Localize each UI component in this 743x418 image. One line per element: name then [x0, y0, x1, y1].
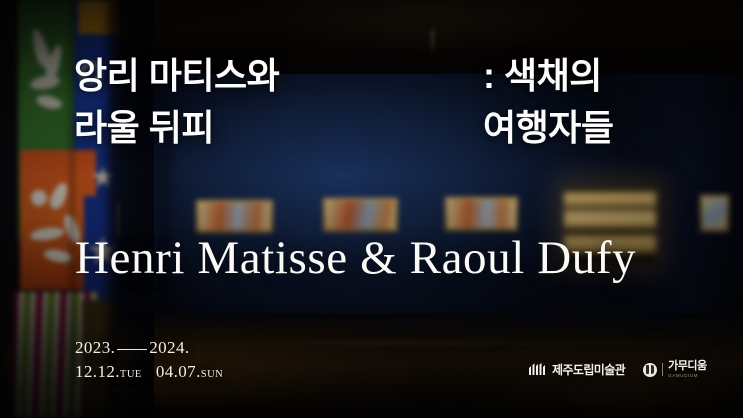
exhibition-poster: 앙리 마티스와 라울 뒤피 : 색채의여행자들 Henri Matisse & … — [0, 0, 743, 418]
title-korean-line-1: 앙리 마티스와 — [74, 55, 279, 96]
poster-content: 앙리 마티스와 라울 뒤피 : 색채의여행자들 Henri Matisse & … — [0, 0, 743, 418]
page-title-korean: 앙리 마티스와 라울 뒤피 — [74, 50, 279, 154]
start-day-of-week: TUE — [120, 369, 142, 380]
jeju-museum-name: 제주도립미술관 — [552, 361, 625, 378]
logo-row: 제주도립미술관 가무디움 GAMUDIUM — [528, 361, 707, 378]
gamudium-text-block: 가무디움 GAMUDIUM — [668, 361, 706, 378]
date-range-separator-icon — [115, 336, 149, 353]
page-title-english: Henri Matisse & Raoul Dufy — [75, 231, 636, 285]
subtitle-korean-line-1: : 색채의 — [483, 55, 602, 96]
gamudium-logo[interactable]: 가무디움 GAMUDIUM — [643, 361, 706, 378]
exhibition-days-row: 12.12.TUE04.07.SUN — [75, 360, 223, 384]
end-date: 04.07. — [156, 362, 201, 381]
title-korean-line-2: 라울 뒤피 — [74, 107, 214, 148]
subtitle-korean: : 색채의여행자들 — [483, 50, 613, 154]
gamudium-badge-icon — [643, 363, 657, 377]
exhibition-years-row: 2023.2024. — [75, 336, 223, 360]
end-day-of-week: SUN — [201, 369, 224, 380]
start-year: 2023. — [75, 338, 115, 357]
gamudium-subtitle: GAMUDIUM — [668, 374, 706, 378]
logo-divider — [662, 363, 663, 376]
end-year: 2024. — [149, 338, 189, 357]
exhibition-dates: 2023.2024. 12.12.TUE04.07.SUN — [75, 336, 223, 384]
jeju-museum-logo[interactable]: 제주도립미술관 — [528, 361, 625, 378]
subtitle-korean-line-2: 여행자들 — [483, 102, 613, 154]
jeju-museum-mark-icon — [528, 363, 547, 376]
start-date: 12.12. — [75, 362, 120, 381]
gamudium-name: 가무디움 — [668, 361, 706, 372]
